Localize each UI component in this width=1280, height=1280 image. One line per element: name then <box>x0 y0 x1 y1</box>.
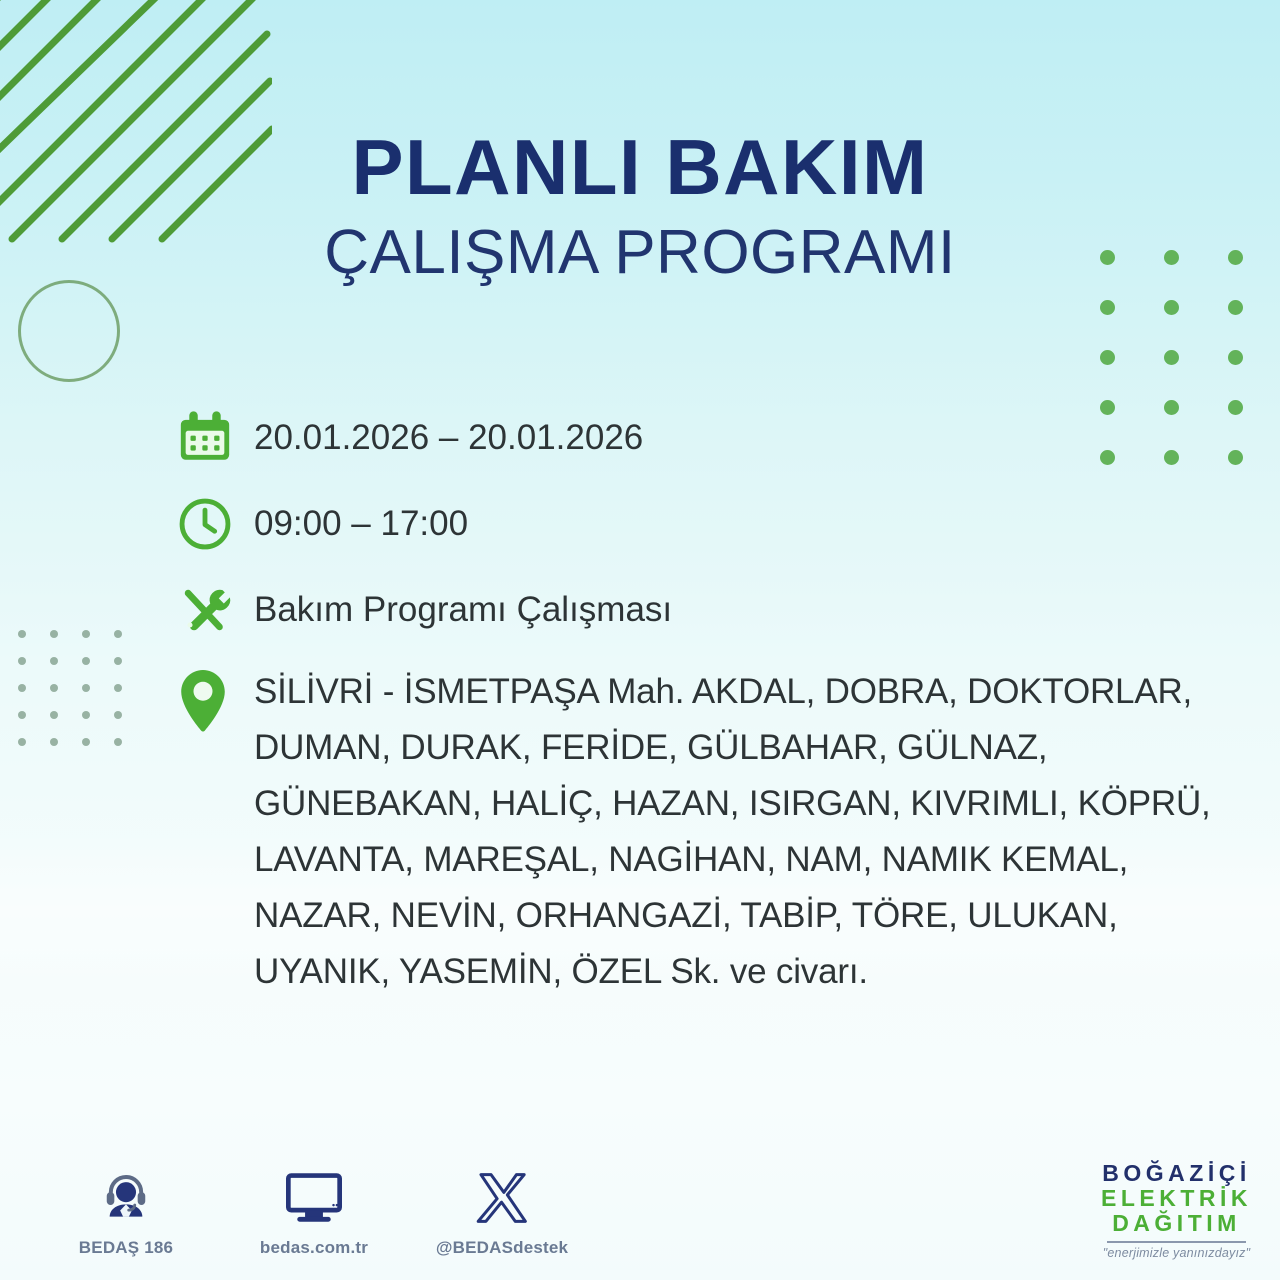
contact-label-call-center: BEDAŞ 186 <box>79 1238 173 1258</box>
dot-grid-left-decoration <box>18 630 146 765</box>
contact-x-account[interactable]: @BEDASdestek <box>438 1164 566 1258</box>
footer-contacts: BEDAŞ 186 bedas.com.tr @BEDASdestek <box>62 1164 566 1258</box>
clock-icon <box>176 488 254 560</box>
brand-line-elektrik: ELEKTRİK <box>1101 1186 1252 1211</box>
poster-canvas: PLANLI BAKIM ÇALIŞMA PROGRAMI <box>0 0 1280 1280</box>
detail-row-date: 20.01.2026 – 20.01.2026 <box>176 402 1256 474</box>
page-subtitle: ÇALIŞMA PROGRAMI <box>0 222 1280 284</box>
brand-divider <box>1107 1241 1246 1243</box>
detail-row-work-type: Bakım Programı Çalışması <box>176 574 1256 646</box>
brand-line-dagitim: DAĞITIM <box>1101 1211 1252 1236</box>
outage-details: 20.01.2026 – 20.01.2026 09:00 – 17:00 <box>176 402 1256 1000</box>
time-range-text: 09:00 – 17:00 <box>254 488 468 560</box>
contact-call-center[interactable]: BEDAŞ 186 <box>62 1164 190 1258</box>
support-agent-icon <box>98 1164 154 1226</box>
work-type-text: Bakım Programı Çalışması <box>254 574 672 646</box>
detail-row-location: SİLİVRİ - İSMETPAŞA Mah. AKDAL, DOBRA, D… <box>176 664 1256 1000</box>
circle-outline-decoration <box>18 280 120 382</box>
monitor-icon <box>285 1164 343 1226</box>
poster-heading: PLANLI BAKIM ÇALIŞMA PROGRAMI <box>0 128 1280 284</box>
contact-label-x-account: @BEDASdestek <box>436 1238 568 1258</box>
page-title: PLANLI BAKIM <box>0 128 1280 206</box>
tools-icon <box>176 574 254 646</box>
location-pin-icon <box>176 664 254 728</box>
contact-website[interactable]: bedas.com.tr <box>250 1164 378 1258</box>
calendar-icon <box>176 402 254 474</box>
detail-row-time: 09:00 – 17:00 <box>176 488 1256 560</box>
x-twitter-icon <box>474 1164 530 1226</box>
bedas-logo: BOĞAZİÇİ ELEKTRİK DAĞITIM "enerjimizle y… <box>1101 1161 1252 1260</box>
address-text: SİLİVRİ - İSMETPAŞA Mah. AKDAL, DOBRA, D… <box>254 664 1244 1000</box>
date-range-text: 20.01.2026 – 20.01.2026 <box>254 402 643 474</box>
contact-label-website: bedas.com.tr <box>260 1238 368 1258</box>
brand-line-bogazici: BOĞAZİÇİ <box>1101 1161 1252 1186</box>
brand-tagline: "enerjimizle yanınızdayız" <box>1101 1246 1252 1260</box>
